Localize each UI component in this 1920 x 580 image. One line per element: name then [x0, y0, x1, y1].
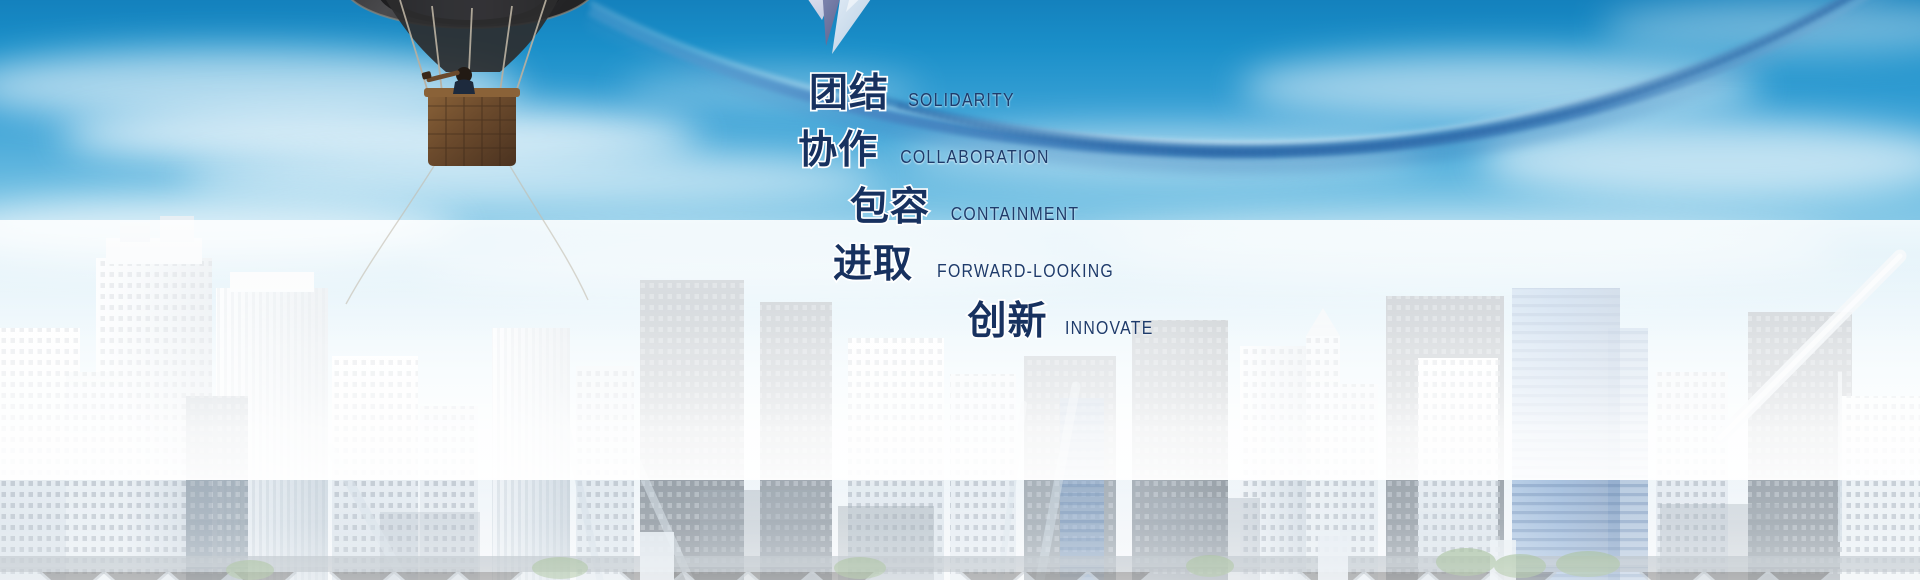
slogan-en: INNOVATE — [1065, 318, 1153, 339]
bottom-haze — [0, 460, 1920, 580]
hot-air-balloon-graphic — [250, 0, 690, 340]
slogan-row: 创新 INNOVATE — [820, 290, 1160, 347]
slogan-cn: 协作 — [798, 119, 878, 175]
slogan-row: 进取 FORWARD-LOOKING — [820, 233, 1160, 290]
slogan-list: 团结 SOLIDARITY 协作 COLLABORATION 包容 CONTAI… — [820, 62, 1160, 347]
slogan-row: 团结 SOLIDARITY — [820, 62, 1160, 119]
paper-plane-icon — [760, 0, 930, 68]
slogan-en: SOLIDARITY — [908, 90, 1015, 111]
slogan-row: 包容 CONTAINMENT — [820, 176, 1160, 233]
slogan-en: FORWARD-LOOKING — [937, 261, 1114, 282]
slogan-cn: 包容 — [850, 176, 930, 232]
slogan-en: COLLABORATION — [900, 147, 1050, 168]
slogan-row: 协作 COLLABORATION — [820, 119, 1160, 176]
culture-banner: 团结 SOLIDARITY 协作 COLLABORATION 包容 CONTAI… — [0, 0, 1920, 580]
slogan-cn: 团结 — [809, 62, 889, 118]
slogan-cn: 创新 — [967, 290, 1047, 346]
slogan-en: CONTAINMENT — [951, 204, 1080, 225]
balloon-basket — [421, 67, 520, 166]
slogan-cn: 进取 — [833, 233, 913, 289]
